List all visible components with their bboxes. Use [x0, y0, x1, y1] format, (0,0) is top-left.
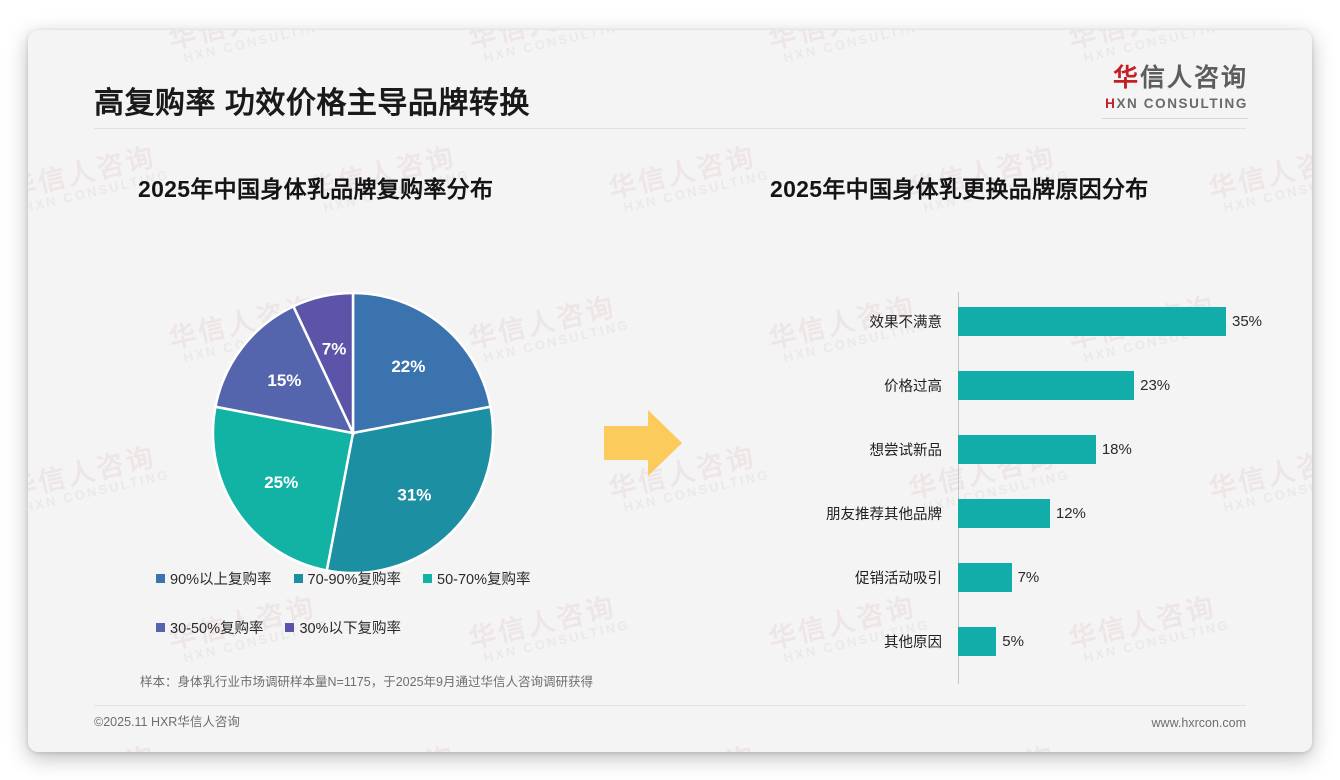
page-title: 高复购率 功效价格主导品牌转换: [94, 78, 530, 122]
legend-swatch: [156, 623, 165, 632]
logo-english-rest: XN CONSULTING: [1116, 96, 1248, 111]
slide: 华信人咨询HXN CONSULTING华信人咨询HXN CONSULTING华信…: [28, 30, 1312, 752]
pie-slice-label: 31%: [397, 485, 431, 504]
watermark-text: 华信人咨询HXN CONSULTING: [604, 133, 771, 218]
legend-item[interactable]: 30%以下复购率: [285, 617, 401, 638]
bar-category-label: 想尝试新品: [798, 439, 950, 460]
watermark-text: 华信人咨询HXN CONSULTING: [464, 30, 631, 67]
legend-swatch: [294, 574, 303, 583]
header-divider: [94, 128, 1246, 129]
footer-copyright: ©2025.11 HXR华信人咨询: [94, 711, 240, 730]
bar-category-label: 其他原因: [798, 631, 950, 652]
pie-chart-title: 2025年中国身体乳品牌复购率分布: [138, 170, 493, 204]
legend-swatch: [423, 574, 432, 583]
watermark-text: 华信人咨询HXN CONSULTING: [764, 30, 931, 67]
watermark-text: 华信人咨询HXN CONSULTING: [28, 433, 171, 518]
brand-logo: 华信人咨询 HXN CONSULTING: [1102, 58, 1248, 119]
bar-fill: [958, 307, 1226, 336]
pie-slice-label: 15%: [267, 371, 301, 390]
bar-fill: [958, 563, 1012, 592]
pie-slice-label: 22%: [391, 357, 425, 376]
logo-english-accent: H: [1105, 96, 1116, 111]
watermark-text: 华信人咨询HXN CONSULTING: [604, 733, 771, 752]
bar-chart-row[interactable]: 价格过高23%: [798, 368, 1268, 402]
watermark-text: 华信人咨询HXN CONSULTING: [28, 283, 31, 368]
bar-chart: 效果不满意35%价格过高23%想尝试新品18%朋友推荐其他品牌12%促销活动吸引…: [798, 292, 1268, 684]
legend-item[interactable]: 70-90%复购率: [294, 568, 401, 589]
watermark-text: 华信人咨询HXN CONSULTING: [1204, 733, 1312, 752]
bar-chart-row[interactable]: 其他原因5%: [798, 624, 1268, 658]
bar-chart-title: 2025年中国身体乳更换品牌原因分布: [770, 170, 1149, 204]
watermark-text: 华信人咨询HXN CONSULTING: [28, 583, 31, 668]
bar-value-label: 18%: [1102, 441, 1132, 458]
legend-item[interactable]: 30-50%复购率: [156, 617, 263, 638]
logo-chinese-rest: 信人咨询: [1140, 64, 1248, 92]
bar-value-label: 7%: [1018, 569, 1040, 586]
bar-category-label: 价格过高: [798, 375, 950, 396]
logo-english: HXN CONSULTING: [1102, 96, 1248, 111]
source-footnote: 样本：身体乳行业市场调研样本量N=1175，于2025年9月通过华信人咨询调研获…: [140, 671, 593, 690]
bar-chart-row[interactable]: 想尝试新品18%: [798, 432, 1268, 466]
footer-website: www.hxrcon.com: [1152, 716, 1246, 730]
legend-label: 30-50%复购率: [170, 617, 263, 638]
bar-category-label: 效果不满意: [798, 311, 950, 332]
legend-label: 50-70%复购率: [437, 568, 530, 589]
legend-label: 70-90%复购率: [308, 568, 401, 589]
logo-chinese-accent: 华: [1113, 64, 1140, 92]
bar-category-label: 促销活动吸引: [798, 567, 950, 588]
logo-chinese: 华信人咨询: [1102, 58, 1248, 94]
watermark-text: 华信人咨询HXN CONSULTING: [1204, 133, 1312, 218]
bar-chart-row[interactable]: 朋友推荐其他品牌12%: [798, 496, 1268, 530]
right-arrow-icon: [604, 408, 684, 483]
watermark-text: 华信人咨询HXN CONSULTING: [28, 733, 171, 752]
bar-fill: [958, 627, 996, 656]
watermark-text: 华信人咨询HXN CONSULTING: [904, 733, 1071, 752]
bar-fill: [958, 435, 1096, 464]
bar-value-label: 23%: [1140, 377, 1170, 394]
logo-underline: [1102, 118, 1248, 119]
bar-chart-row[interactable]: 效果不满意35%: [798, 304, 1268, 338]
legend-item[interactable]: 90%以上复购率: [156, 568, 272, 589]
bar-chart-row[interactable]: 促销活动吸引7%: [798, 560, 1268, 594]
bar-value-label: 35%: [1232, 313, 1262, 330]
legend-swatch: [156, 574, 165, 583]
watermark-text: 华信人咨询HXN CONSULTING: [164, 30, 331, 67]
bar-fill: [958, 371, 1134, 400]
legend-swatch: [285, 623, 294, 632]
pie-chart: 22%31%25%15%7%: [208, 288, 498, 578]
pie-slice-label: 25%: [264, 473, 298, 492]
legend-label: 30%以下复购率: [299, 617, 401, 638]
bar-fill: [958, 499, 1050, 528]
legend-label: 90%以上复购率: [170, 568, 272, 589]
footer-divider: [94, 705, 1246, 706]
bar-value-label: 12%: [1056, 505, 1086, 522]
bar-category-label: 朋友推荐其他品牌: [798, 503, 950, 524]
legend-item[interactable]: 50-70%复购率: [423, 568, 530, 589]
watermark-text: 华信人咨询HXN CONSULTING: [304, 733, 471, 752]
pie-chart-svg: 22%31%25%15%7%: [208, 288, 498, 578]
pie-slice-label: 7%: [322, 339, 347, 358]
bar-value-label: 5%: [1002, 633, 1024, 650]
pie-chart-legend: 90%以上复购率70-90%复购率50-70%复购率30-50%复购率30%以下…: [156, 568, 596, 666]
watermark-text: 华信人咨询HXN CONSULTING: [28, 30, 31, 67]
